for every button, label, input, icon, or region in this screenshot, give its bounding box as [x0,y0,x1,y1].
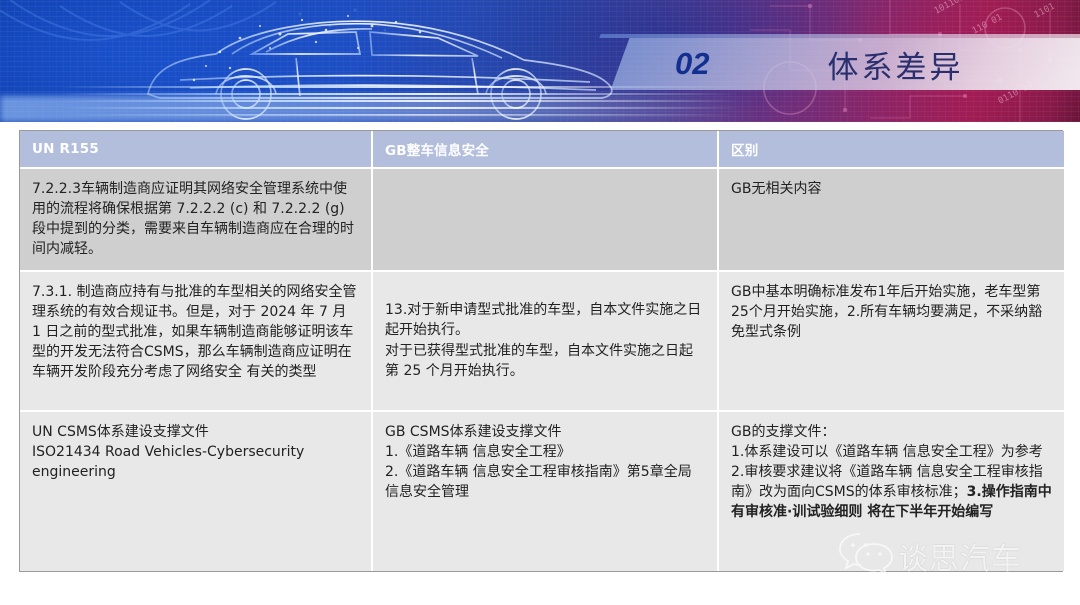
table-row: 7.2.2.3车辆制造商应证明其网络安全管理系统中使用的流程将确保根据第 7.2… [20,168,1064,271]
section-number: 02 [675,46,709,82]
cell-difference: GB的支撑文件： 1.体系建设可以《道路车辆 信息安全工程》为参考 2.审核要求… [718,411,1064,571]
cell-un-r155: 7.2.2.3车辆制造商应证明其网络安全管理系统中使用的流程将确保根据第 7.2… [20,168,372,271]
column-header-gb: GB整车信息安全 [372,131,718,168]
cell-difference: GB中基本明确标准发布1年后开始实施，老车型第25个月开始实施，2.所有车辆均要… [718,271,1064,411]
cell-gb: 13.对于新申请型式批准的车型，自本文件实施之日起开始执行。 对于已获得型式批准… [372,271,718,411]
column-header-un-r155: UN R155 [20,131,372,168]
table-header-row: UN R155 GB整车信息安全 区别 [20,131,1064,168]
table-row: 7.3.1. 制造商应持有与批准的车型相关的网络安全管理系统的有效合规证书。但是… [20,271,1064,411]
svg-text:1011001: 1011001 [933,0,971,17]
cell-un-r155: 7.3.1. 制造商应持有与批准的车型相关的网络安全管理系统的有效合规证书。但是… [20,271,372,411]
cell-difference: GB无相关内容 [718,168,1064,271]
comparison-table: UN R155 GB整车信息安全 区别 7.2.2.3车辆制造商应证明其网络安全… [20,131,1064,571]
cell-gb: GB CSMS体系建设支撑文件 1.《道路车辆 信息安全工程》 2.《道路车辆 … [372,411,718,571]
banner-title-row: 02 体系差异 [620,38,1080,90]
cell-un-r155: UN CSMS体系建设支撑文件 ISO21434 Road Vehicles-C… [20,411,372,571]
comparison-table-container: UN R155 GB整车信息安全 区别 7.2.2.3车辆制造商应证明其网络安全… [19,130,1063,572]
cell-gb [372,168,718,271]
page-banner: 1011001 110 01 0110 10 0 1 1 1101 [0,0,1080,122]
column-header-difference: 区别 [718,131,1064,168]
section-title: 体系差异 [827,42,963,87]
banner-bottom-glow [0,96,760,122]
table-row: UN CSMS体系建设支撑文件 ISO21434 Road Vehicles-C… [20,411,1064,571]
svg-text:1101: 1101 [1033,2,1057,21]
